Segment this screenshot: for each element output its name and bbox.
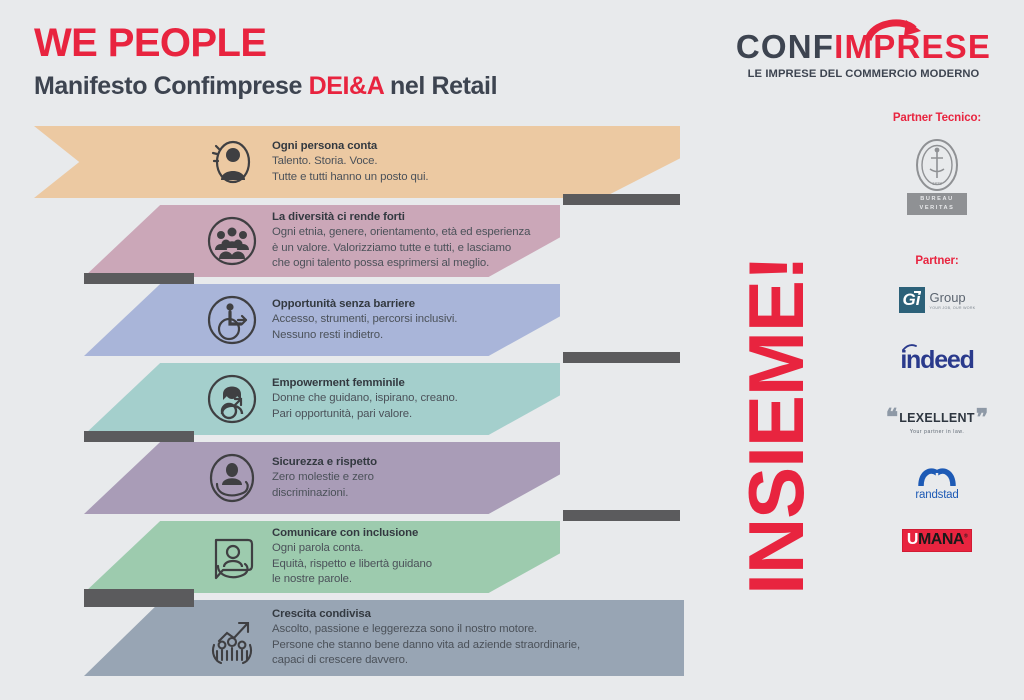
logo-part-conf: CONF bbox=[736, 28, 834, 65]
logo-tagline: LE IMPRESE DEL COMMERCIO MODERNO bbox=[726, 68, 1001, 80]
subtitle-suffix: nel Retail bbox=[383, 72, 497, 100]
band-line: Talento. Storia. Voce. bbox=[272, 154, 429, 170]
band-line: capaci di crescere davvero. bbox=[272, 653, 580, 669]
insieme-slogan: INSIEME! bbox=[716, 175, 836, 675]
bureau-veritas-wordmark: BUREAU VERITAS bbox=[907, 193, 967, 215]
page-header: WE PEOPLE Manifesto Confimprese DEI&A ne… bbox=[34, 22, 497, 101]
gi-group-logo[interactable]: Gi Group YOUR JOB, OUR WORK bbox=[862, 287, 1012, 313]
band-row: Ogni persona conta Talento. Storia. Voce… bbox=[0, 126, 700, 205]
lexellent-tagline: Your partner in law. bbox=[910, 429, 965, 435]
randstad-logo[interactable]: randstad bbox=[862, 465, 1012, 501]
band-row: La diversità ci rende forti Ogni etnia, … bbox=[0, 205, 700, 284]
band-line: le nostre parole. bbox=[272, 572, 432, 588]
gi-mark-icon: Gi bbox=[899, 287, 925, 313]
band-text: Comunicare con inclusione Ogni parola co… bbox=[272, 526, 432, 588]
band-line: discriminazioni. bbox=[272, 486, 377, 502]
band-line: Donne che guidano, ispirano, creano. bbox=[272, 391, 458, 407]
speech-bubble-person-hand-icon bbox=[204, 529, 260, 585]
partner-heading: Partner: bbox=[862, 255, 1012, 267]
band-text: La diversità ci rende forti Ogni etnia, … bbox=[272, 210, 530, 272]
page-title: WE PEOPLE bbox=[34, 22, 497, 64]
band-line: Nessuno resti indietro. bbox=[272, 328, 457, 344]
band-title: La diversità ci rende forti bbox=[272, 210, 530, 224]
bv-line1: BUREAU bbox=[907, 195, 967, 204]
band-row: Sicurezza e rispetto Zero molestie e zer… bbox=[0, 442, 700, 521]
band-line: Ogni etnia, genere, orientamento, età ed… bbox=[272, 225, 530, 241]
group-of-people-icon bbox=[204, 213, 260, 269]
band-comunicare-con-inclusione[interactable]: Comunicare con inclusione Ogni parola co… bbox=[84, 521, 560, 593]
band-shadow-tab bbox=[563, 352, 680, 363]
page-subtitle: Manifesto Confimprese DEI&A nel Retail bbox=[34, 72, 497, 101]
person-in-hand-icon bbox=[204, 450, 260, 506]
band-ogni-persona-conta[interactable]: Ogni persona conta Talento. Storia. Voce… bbox=[34, 126, 680, 198]
quote-close-icon: ❞ bbox=[976, 408, 988, 426]
confimprese-logo: CONFIMPRESE LE IMPRESE DEL COMMERCIO MOD… bbox=[726, 30, 1001, 80]
band-row: Empowerment femminile Donne che guidano,… bbox=[0, 363, 700, 442]
growth-arrow-people-icon bbox=[204, 610, 260, 666]
band-line: Tutte e tutti hanno un posto qui. bbox=[272, 170, 429, 186]
band-opportunita-senza-barriere[interactable]: Opportunità senza barriere Accesso, stru… bbox=[84, 284, 560, 356]
red-arc-arrow-icon bbox=[864, 16, 924, 42]
band-text: Crescita condivisa Ascolto, passione e l… bbox=[272, 607, 580, 669]
band-text: Sicurezza e rispetto Zero molestie e zer… bbox=[272, 455, 377, 502]
band-line: Zero molestie e zero bbox=[272, 470, 377, 486]
umana-wordmark: UMANA® bbox=[907, 532, 967, 549]
svg-text:1828: 1828 bbox=[932, 181, 942, 186]
gi-group-name: Group bbox=[930, 291, 976, 304]
umana-logo[interactable]: UMANA® bbox=[862, 529, 1012, 552]
band-shadow-tab bbox=[84, 431, 194, 442]
randstad-mark-icon bbox=[917, 465, 957, 487]
band-line: è un valore. Valorizziamo tutte e tutti,… bbox=[272, 241, 530, 257]
band-line: Pari opportunità, pari valore. bbox=[272, 407, 458, 423]
band-text: Empowerment femminile Donne che guidano,… bbox=[272, 376, 458, 423]
band-line: Ascolto, passione e leggerezza sono il n… bbox=[272, 622, 580, 638]
indeed-arc-icon bbox=[902, 343, 917, 351]
band-line: Ogni parola conta. bbox=[272, 541, 432, 557]
partner-tecnico-heading: Partner Tecnico: bbox=[862, 112, 1012, 124]
band-text: Ogni persona conta Talento. Storia. Voce… bbox=[272, 139, 429, 186]
band-title: Empowerment femminile bbox=[272, 376, 458, 390]
band-row: Opportunità senza barriere Accesso, stru… bbox=[0, 284, 700, 363]
umana-rest: MANA bbox=[918, 531, 964, 548]
wheelchair-accessibility-icon bbox=[204, 292, 260, 348]
band-title: Crescita condivisa bbox=[272, 607, 580, 621]
band-shadow-tab bbox=[84, 596, 194, 607]
insieme-text: INSIEME! bbox=[731, 256, 822, 595]
randstad-name: randstad bbox=[915, 489, 958, 501]
band-title: Opportunità senza barriere bbox=[272, 297, 457, 311]
woman-gender-symbol-icon bbox=[204, 371, 260, 427]
band-line: Persone che stanno bene danno vita ad az… bbox=[272, 638, 580, 654]
indeed-logo[interactable]: indeed bbox=[862, 348, 1012, 373]
bureau-veritas-logo[interactable]: 1828 BUREAU VERITAS bbox=[907, 138, 967, 215]
band-shadow-tab bbox=[563, 194, 680, 205]
partners-sidebar: Partner Tecnico: 1828 BUREAU VERITAS Par… bbox=[862, 112, 1012, 552]
person-portrait-icon bbox=[204, 134, 260, 190]
band-row: Comunicare con inclusione Ogni parola co… bbox=[0, 521, 700, 600]
band-line: Accesso, strumenti, percorsi inclusivi. bbox=[272, 312, 457, 328]
band-text: Opportunità senza barriere Accesso, stru… bbox=[272, 297, 457, 344]
indeed-wordmark: indeed bbox=[900, 348, 973, 373]
band-shadow-tab bbox=[563, 510, 680, 521]
band-sicurezza-e-rispetto[interactable]: Sicurezza e rispetto Zero molestie e zer… bbox=[84, 442, 560, 514]
subtitle-accent: DEI&A bbox=[309, 72, 384, 100]
gi-group-tagline: YOUR JOB, OUR WORK bbox=[930, 306, 976, 310]
band-shadow-tab bbox=[84, 273, 194, 284]
subtitle-prefix: Manifesto Confimprese bbox=[34, 72, 309, 100]
umana-tm: ® bbox=[964, 533, 967, 539]
umana-u: U bbox=[907, 531, 918, 548]
band-line: Equità, rispetto e libertà guidano bbox=[272, 557, 432, 573]
manifesto-bands: Ogni persona conta Talento. Storia. Voce… bbox=[0, 126, 700, 679]
band-title: Ogni persona conta bbox=[272, 139, 429, 153]
quote-open-icon: ❝ bbox=[886, 408, 898, 426]
bureau-veritas-seal-icon: 1828 bbox=[914, 138, 960, 192]
bv-line2: VERITAS bbox=[907, 204, 967, 213]
band-row: Crescita condivisa Ascolto, passione e l… bbox=[0, 600, 700, 679]
band-title: Comunicare con inclusione bbox=[272, 526, 432, 540]
lexellent-logo[interactable]: ❝ LEXELLENT ❞ Your partner in law. bbox=[862, 408, 1012, 434]
band-crescita-condivisa[interactable]: Crescita condivisa Ascolto, passione e l… bbox=[84, 600, 684, 676]
band-la-diversita-ci-rende-forti[interactable]: La diversità ci rende forti Ogni etnia, … bbox=[84, 205, 560, 277]
lexellent-name: LEXELLENT bbox=[899, 411, 975, 425]
band-title: Sicurezza e rispetto bbox=[272, 455, 377, 469]
band-line: che ogni talento possa esprimersi al meg… bbox=[272, 256, 530, 272]
band-empowerment-femminile[interactable]: Empowerment femminile Donne che guidano,… bbox=[84, 363, 560, 435]
